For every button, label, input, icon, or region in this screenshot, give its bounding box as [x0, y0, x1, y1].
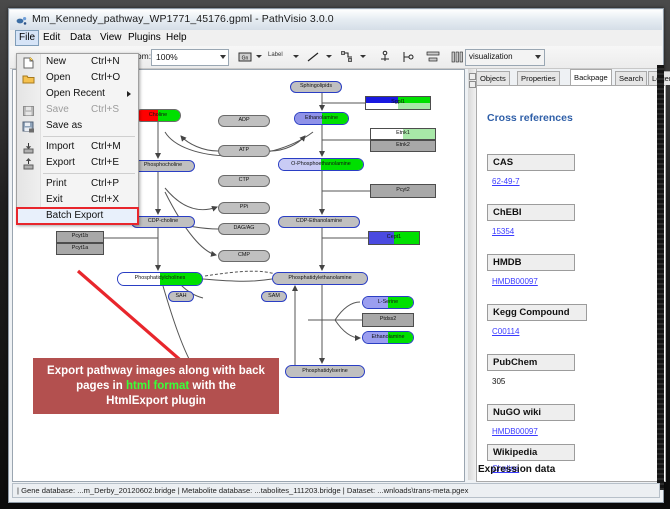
xref-value-nugo[interactable]: HMDB00097	[492, 427, 538, 436]
metabolite-node[interactable]: CTP	[218, 175, 270, 187]
node-label: L-Serine	[378, 300, 398, 305]
xref-name: Kegg Compound	[493, 307, 570, 318]
menu-item-shortcut: Ctrl+N	[91, 56, 120, 67]
node-label: Pcyt2	[396, 188, 409, 193]
svg-text:Gn: Gn	[242, 56, 249, 62]
node-label: Pcyt1a	[72, 246, 88, 251]
xref-label-hmdb: HMDB	[487, 254, 575, 271]
file-menu-items: NewCtrl+NOpenCtrl+OOpen RecentSaveCtrl+S…	[17, 54, 138, 224]
xref-label-kegg: Kegg Compound	[487, 304, 587, 321]
align-left-icon[interactable]	[402, 50, 416, 64]
anchor-tool-icon[interactable]	[378, 50, 392, 64]
line-tool-icon[interactable]	[306, 50, 320, 64]
file-menu-item-import[interactable]: ImportCtrl+M	[17, 139, 138, 155]
node-label: ATP	[239, 148, 249, 153]
window-title: Mm_Kennedy_pathway_WP1771_45176.gpml - P…	[32, 13, 334, 25]
expression-data-heading: Expression data	[478, 464, 555, 475]
menu-item-shortcut: Ctrl+P	[91, 178, 119, 189]
menu-item-label: New	[46, 56, 66, 67]
side-panel: Objects Properties Backpage Search Legen…	[468, 69, 664, 480]
gene-node[interactable]: Pcyt2	[370, 184, 436, 198]
file-menu-popup: NewCtrl+NOpenCtrl+OOpen RecentSaveCtrl+S…	[16, 53, 139, 225]
node-label: Choline	[149, 113, 167, 118]
node-label: Sgpl1	[391, 100, 405, 105]
xref-name: ChEBI	[493, 207, 522, 218]
menu-item-label: Save	[46, 104, 69, 115]
menu-bar: File Edit Data View Plugins Help	[10, 30, 662, 47]
menu-plugins[interactable]: Plugins	[124, 31, 165, 45]
distribute-icon[interactable]	[450, 50, 464, 64]
node-label: Etnk1	[396, 131, 410, 136]
menu-view[interactable]: View	[96, 31, 126, 45]
file-menu-item-batch-export[interactable]: Batch Export	[17, 208, 138, 224]
tab-objects[interactable]: Objects	[476, 71, 510, 85]
metabolite-node[interactable]: CDP-Ethanolamine	[278, 216, 360, 228]
metabolite-node[interactable]: ADP	[218, 115, 270, 127]
xref-name: NuGO wiki	[493, 407, 541, 418]
node-label: Ethanolamine	[305, 116, 338, 121]
menu-item-shortcut: Ctrl+X	[91, 194, 119, 205]
metabolite-node[interactable]: Phosphatidylserine	[285, 365, 365, 378]
metabolite-node[interactable]: CDP-choline	[131, 216, 195, 228]
node-label: Ptdss2	[380, 317, 396, 322]
menu-item-label: Save as	[46, 120, 82, 131]
desktop-backdrop: Mm_Kennedy_pathway_WP1771_45176.gpml - P…	[0, 0, 670, 509]
visualization-value: visualization	[469, 52, 513, 61]
visualization-combobox[interactable]: visualization	[465, 49, 545, 66]
node-label: Pcyt1b	[72, 234, 88, 239]
xref-label-nugo: NuGO wiki	[487, 404, 575, 421]
node-label: SAM	[268, 294, 280, 299]
interaction-tool-icon[interactable]	[340, 50, 354, 64]
annotation-line-3: HtmlExport plugin	[106, 394, 206, 409]
xref-label-wikipedia: Wikipedia	[487, 444, 575, 461]
node-label: Phosphatidylethanolamine	[288, 276, 351, 281]
annotation-line-1: Export pathway images along with back	[47, 364, 265, 379]
gene-node[interactable]: Cept1	[368, 231, 420, 245]
collapse-down-icon[interactable]	[469, 81, 476, 88]
file-menu-item-new[interactable]: NewCtrl+N	[17, 54, 138, 70]
annotation-line-2-post: with the	[189, 380, 236, 392]
xref-value-pubchem: 305	[492, 377, 505, 386]
chevron-down-icon[interactable]	[293, 55, 299, 58]
metabolite-node[interactable]: CMP	[218, 250, 270, 262]
file-menu-item-open[interactable]: OpenCtrl+O	[17, 70, 138, 86]
status-text: | Gene database: ...m_Derby_20120602.bri…	[17, 486, 468, 495]
metabolite-node[interactable]: ATP	[218, 145, 270, 157]
file-menu-item-export[interactable]: ExportCtrl+E	[17, 155, 138, 171]
menu-item-label: Open	[46, 72, 70, 83]
node-label: CMP	[238, 253, 250, 258]
xref-name: HMDB	[493, 257, 522, 268]
gene-node[interactable]: Sgpl1	[365, 96, 431, 110]
panel-scrollbar[interactable]	[657, 65, 664, 490]
annotation-line-2: pages in html format with the	[76, 379, 236, 394]
menu-file[interactable]: File	[15, 30, 39, 46]
file-menu-item-print[interactable]: PrintCtrl+P	[17, 176, 138, 192]
collapse-up-icon[interactable]	[469, 73, 476, 80]
gene-node[interactable]: Etnk1	[370, 128, 436, 140]
label-tool[interactable]: Label	[268, 52, 283, 66]
menu-item-label: Exit	[46, 194, 63, 205]
status-bar: | Gene database: ...m_Derby_20120602.bri…	[12, 483, 660, 498]
menu-data[interactable]: Data	[66, 31, 95, 45]
metabolite-node[interactable]: Phosphatidylethanolamine	[272, 272, 368, 285]
panel-tab-bar: Objects Properties Backpage Search Legen…	[476, 69, 664, 85]
xref-value-cas[interactable]: 62-49-7	[492, 177, 520, 186]
metabolite-node[interactable]: Ethanolamine	[294, 112, 349, 125]
node-label: Phosphocholine	[144, 163, 182, 168]
title-bar: Mm_Kennedy_pathway_WP1771_45176.gpml - P…	[10, 10, 662, 31]
gene-node[interactable]: Ptdss2	[362, 313, 414, 327]
xref-value-hmdb[interactable]: HMDB00097	[492, 277, 538, 286]
menu-separator	[43, 136, 135, 137]
metabolite-node[interactable]: PPi	[218, 202, 270, 214]
xref-name: Wikipedia	[493, 447, 537, 458]
menu-help[interactable]: Help	[162, 31, 191, 45]
metabolite-node[interactable]: O-Phosphoethanolamine	[278, 158, 364, 171]
xref-value-kegg[interactable]: C00114	[492, 327, 519, 336]
metabolite-node[interactable]: Sphingolipids	[290, 81, 342, 93]
chevron-down-icon[interactable]	[256, 55, 262, 58]
new-document-icon	[22, 56, 35, 68]
menu-item-shortcut: Ctrl+O	[91, 72, 120, 83]
save-as-icon	[22, 120, 35, 132]
annotation-callout: Export pathway images along with back pa…	[33, 358, 279, 414]
menu-item-shortcut: Ctrl+S	[91, 104, 119, 115]
tab-backpage[interactable]: Backpage	[570, 69, 612, 85]
cross-references-heading: Cross references	[487, 112, 573, 124]
annotation-line-2-pre: pages in	[76, 380, 126, 392]
pathvisio-app-icon	[16, 14, 28, 26]
menu-separator	[43, 173, 135, 174]
metabolite-node[interactable]: SAM	[261, 291, 287, 302]
menu-item-label: Batch Export	[46, 210, 103, 221]
file-menu-item-open-recent[interactable]: Open Recent	[17, 86, 138, 102]
export-icon	[22, 157, 35, 169]
xref-label-chebi: ChEBI	[487, 204, 575, 221]
xref-label-pubchem: PubChem	[487, 354, 575, 371]
zoom-value: 100%	[156, 52, 178, 62]
pathvisio-window: Mm_Kennedy_pathway_WP1771_45176.gpml - P…	[8, 8, 664, 503]
xref-name: PubChem	[493, 357, 537, 368]
menu-item-shortcut: Ctrl+M	[91, 141, 121, 152]
node-label: PPi	[240, 205, 248, 210]
open-folder-icon	[22, 72, 35, 84]
menu-edit[interactable]: Edit	[39, 31, 64, 45]
node-label: CTP	[239, 178, 250, 183]
zoom-combobox[interactable]: 100%	[151, 49, 229, 66]
gene-node[interactable]: Etnk2	[370, 140, 436, 152]
align-center-icon[interactable]	[426, 50, 440, 64]
annotation-highlight: html format	[126, 380, 189, 392]
node-label: Phosphatidylserine	[302, 369, 348, 374]
chevron-down-icon[interactable]	[360, 55, 366, 58]
metabolite-node[interactable]: L-Serine	[362, 296, 414, 309]
node-label: Sphingolipids	[300, 84, 332, 89]
metabolite-node[interactable]: Phosphocholine	[131, 160, 195, 172]
node-label: Cept1	[387, 235, 401, 240]
menu-item-label: Print	[46, 178, 67, 189]
backpage-content: Cross references CAS 62-49-7 ChEBI 15354…	[476, 85, 666, 482]
gene-node[interactable]: Pcyt1b	[56, 231, 104, 243]
menu-item-shortcut: Ctrl+E	[91, 157, 119, 168]
xref-name: CAS	[493, 157, 513, 168]
node-label: O-Phosphoethanolamine	[291, 162, 351, 167]
save-disk-icon	[22, 104, 35, 116]
metabolite-node[interactable]: Choline	[135, 109, 181, 122]
gene-product-icon[interactable]: Gn	[238, 50, 252, 64]
tab-properties[interactable]: Properties	[517, 71, 560, 85]
gene-node[interactable]: Pcyt1a	[56, 243, 104, 255]
metabolite-node[interactable]: Ethanolamine	[362, 331, 414, 344]
node-label: ADP	[238, 118, 249, 123]
file-menu-item-save-as[interactable]: Save as	[17, 118, 138, 134]
xref-value-chebi[interactable]: 15354	[492, 227, 514, 236]
chevron-right-icon	[127, 91, 131, 97]
file-menu-item-save[interactable]: SaveCtrl+S	[17, 102, 138, 118]
chevron-down-icon	[535, 55, 541, 59]
node-label: CDP-choline	[148, 219, 178, 224]
menu-item-label: Open Recent	[46, 88, 105, 99]
chevron-down-icon[interactable]	[326, 55, 332, 58]
menu-item-label: Export	[46, 157, 75, 168]
menu-item-label: Import	[46, 141, 74, 152]
node-label: DAG/AG	[234, 226, 255, 231]
node-label: CDP-Ethanolamine	[296, 219, 342, 224]
file-menu-item-exit[interactable]: ExitCtrl+X	[17, 192, 138, 208]
chevron-down-icon	[220, 55, 226, 59]
tab-search[interactable]: Search	[615, 71, 647, 85]
node-label: Etnk2	[396, 143, 410, 148]
node-label: Ethanolamine	[372, 335, 405, 340]
import-icon	[22, 141, 35, 153]
metabolite-node[interactable]: DAG/AG	[218, 223, 270, 235]
xref-label-cas: CAS	[487, 154, 575, 171]
